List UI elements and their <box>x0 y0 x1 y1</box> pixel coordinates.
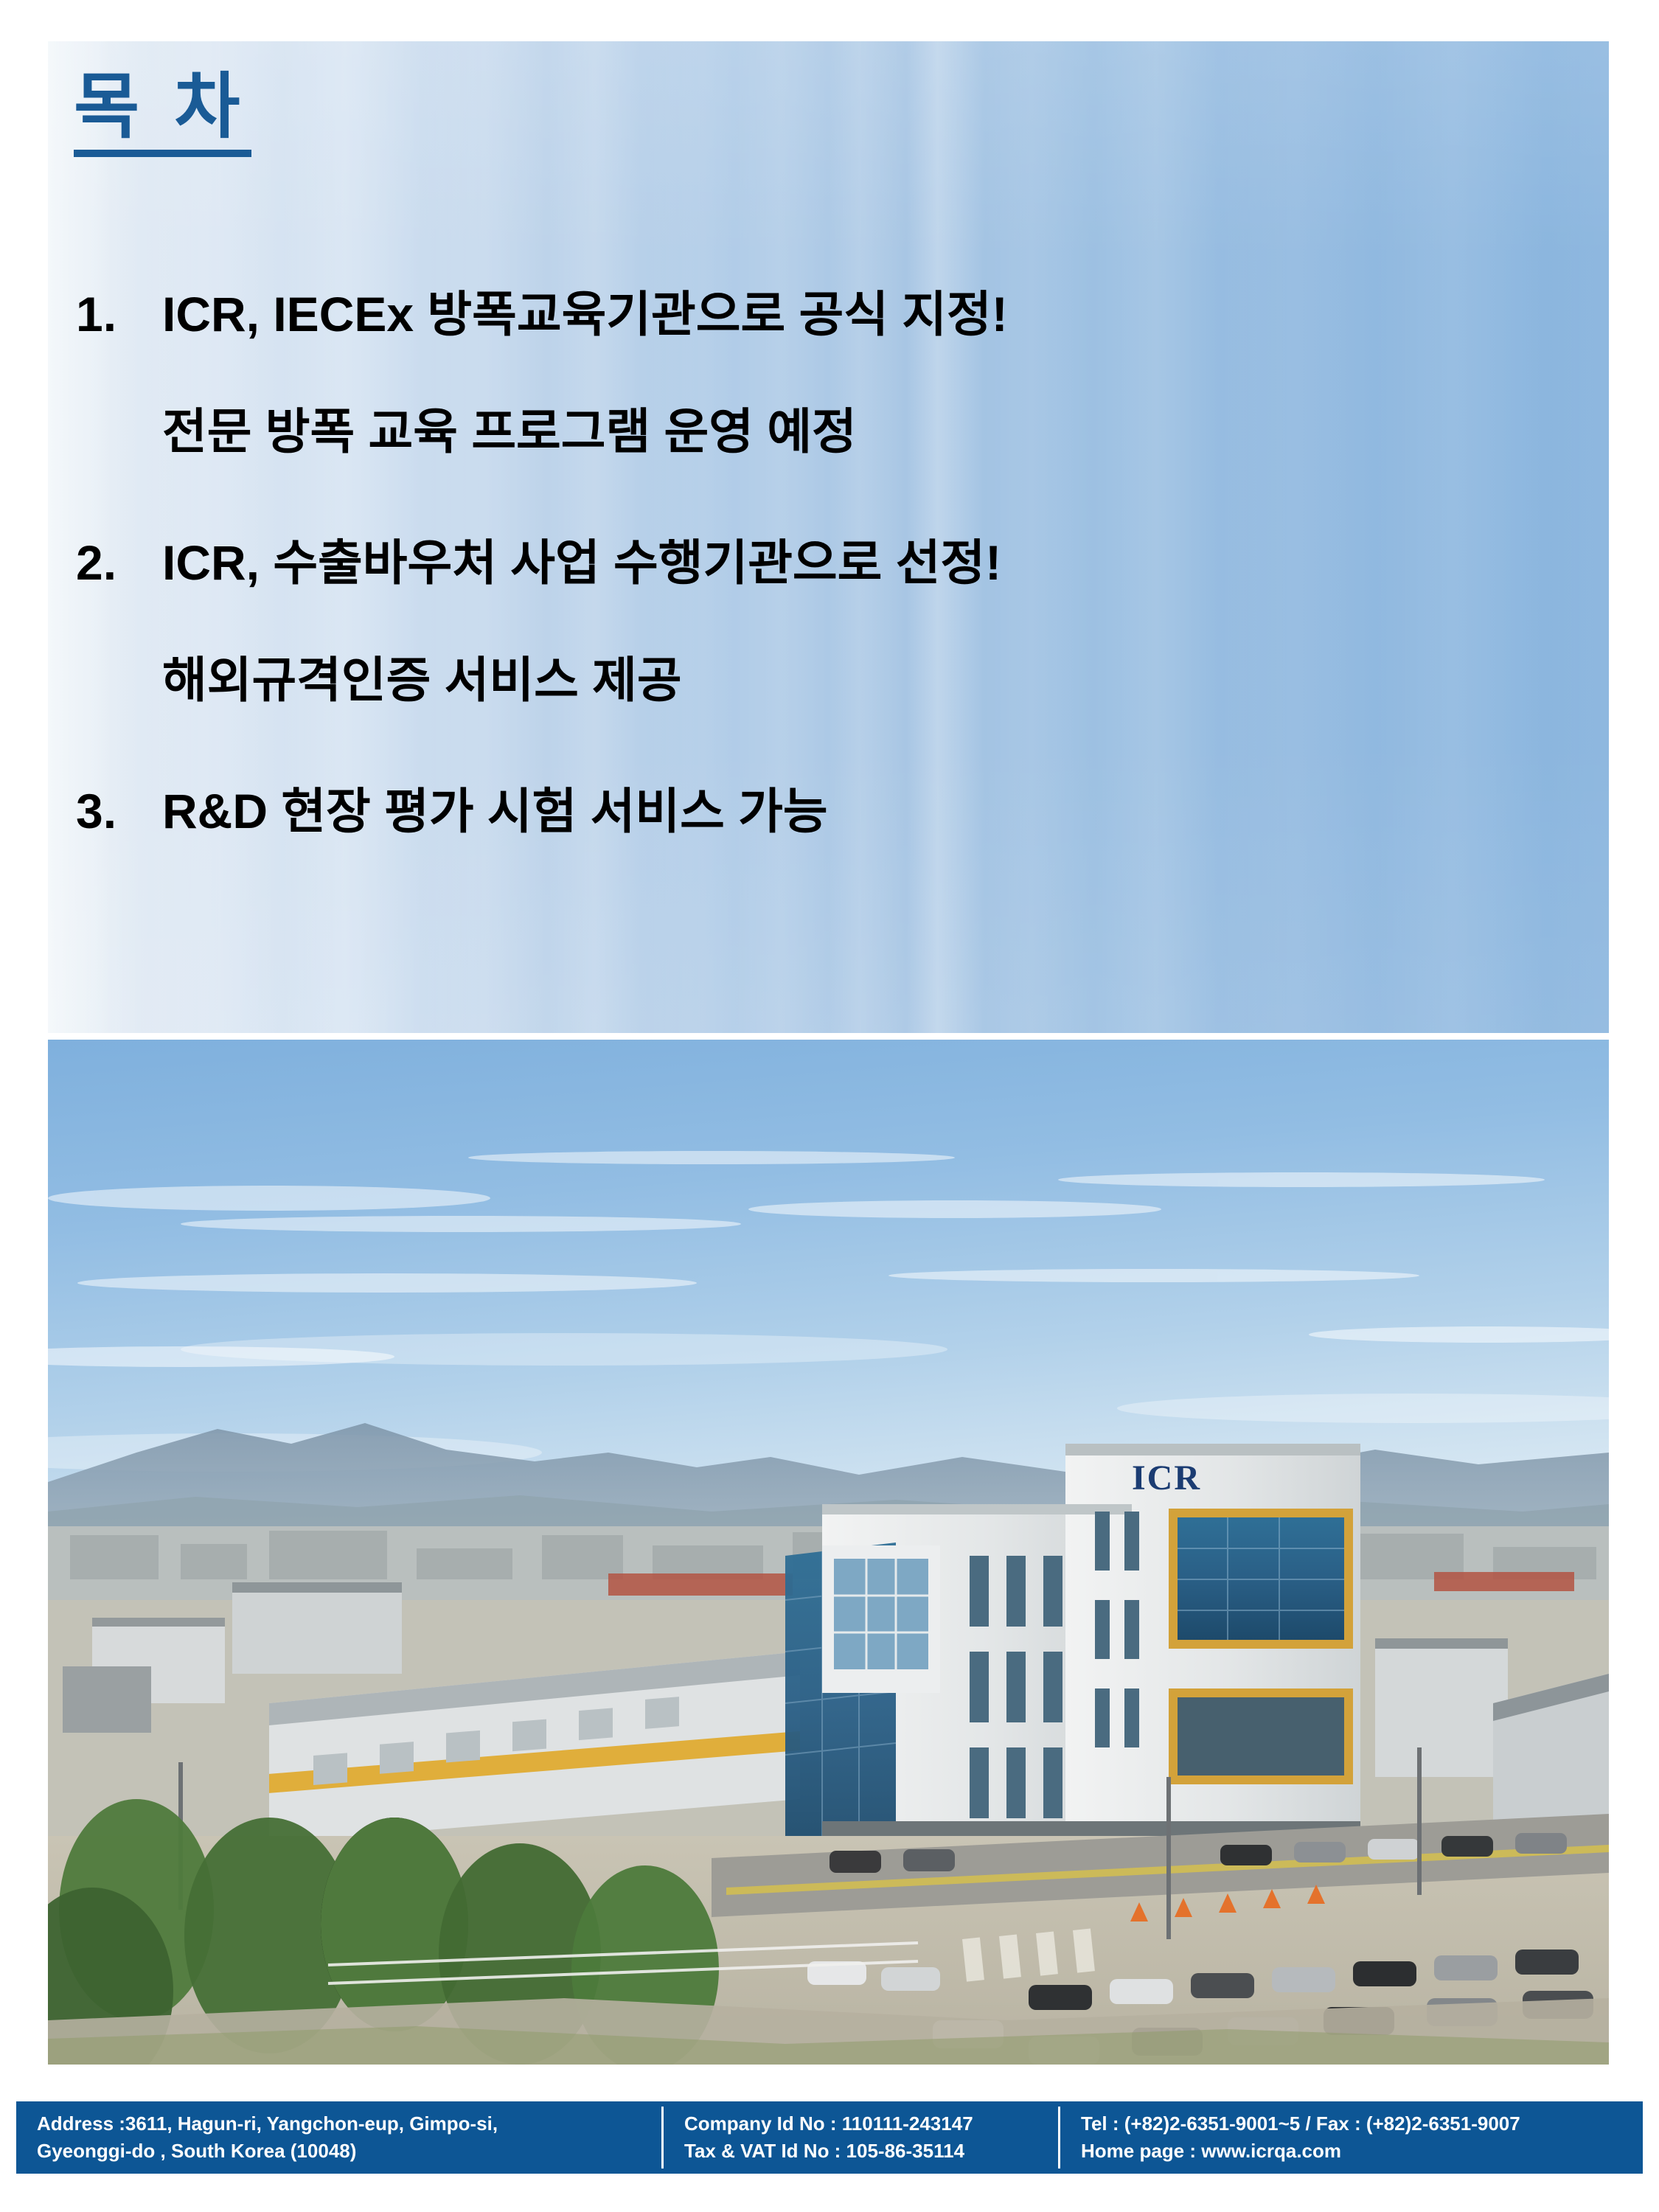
page-title: 목 차 <box>74 67 251 157</box>
footer-tel-fax: Tel : (+82)2-6351-9001~5 / Fax : (+82)2-… <box>1081 2110 1631 2138</box>
toc-item-2-texts: ICR, 수출바우처 사업 수행기관으로 선정! 해외규격인증 서비스 제공 <box>162 533 1609 709</box>
toc-item-2-main: ICR, 수출바우처 사업 수행기관으로 선정! <box>162 533 1609 593</box>
footer-address-line2: Gyeonggi-do , South Korea (10048) <box>37 2138 650 2165</box>
toc-item-3: 3. R&D 현장 평가 시험 서비스 가능 <box>48 782 1609 841</box>
toc-item-1: 1. ICR, IECEx 방폭교육기관으로 공식 지정! 전문 방폭 교육 프… <box>48 285 1609 461</box>
building-photo: ICR <box>48 1040 1609 2065</box>
toc-item-1-number: 1. <box>48 285 162 344</box>
footer-contact-block: Tel : (+82)2-6351-9001~5 / Fax : (+82)2-… <box>1060 2101 1643 2174</box>
toc-list: 1. ICR, IECEx 방폭교육기관으로 공식 지정! 전문 방폭 교육 프… <box>48 285 1609 841</box>
toc-item-2: 2. ICR, 수출바우처 사업 수행기관으로 선정! 해외규격인증 서비스 제… <box>48 533 1609 709</box>
toc-item-2-sub: 해외규격인증 서비스 제공 <box>162 650 1609 710</box>
toc-item-1-texts: ICR, IECEx 방폭교육기관으로 공식 지정! 전문 방폭 교육 프로그램… <box>162 285 1609 461</box>
svg-text:ICR: ICR <box>1132 1458 1201 1498</box>
footer-vat-id: Tax & VAT Id No : 105-86-35114 <box>684 2138 1046 2165</box>
footer-homepage[interactable]: Home page : www.icrqa.com <box>1081 2138 1631 2165</box>
toc-item-3-main: R&D 현장 평가 시험 서비스 가능 <box>162 782 1609 841</box>
toc-content: 목 차 1. ICR, IECEx 방폭교육기관으로 공식 지정! 전문 방폭 … <box>48 41 1609 1033</box>
toc-item-2-number: 2. <box>48 533 162 593</box>
slide-page: 목 차 1. ICR, IECEx 방폭교육기관으로 공식 지정! 전문 방폭 … <box>0 0 1659 2212</box>
toc-item-1-sub: 전문 방폭 교육 프로그램 운영 예정 <box>162 402 1609 462</box>
toc-item-3-texts: R&D 현장 평가 시험 서비스 가능 <box>162 782 1609 841</box>
footer-address-block: Address :3611, Hagun-ri, Yangchon-eup, G… <box>16 2101 661 2174</box>
toc-item-3-number: 3. <box>48 782 162 841</box>
footer-company-id-block: Company Id No : 110111-243147 Tax & VAT … <box>664 2101 1058 2174</box>
building-photo-illustration: ICR <box>48 1040 1609 2065</box>
footer-company-id: Company Id No : 110111-243147 <box>684 2110 1046 2138</box>
toc-panel: 목 차 1. ICR, IECEx 방폭교육기관으로 공식 지정! 전문 방폭 … <box>48 41 1609 1033</box>
footer-address-line1: Address :3611, Hagun-ri, Yangchon-eup, G… <box>37 2110 650 2138</box>
footer-bar: Address :3611, Hagun-ri, Yangchon-eup, G… <box>16 2101 1643 2174</box>
toc-item-1-main: ICR, IECEx 방폭교육기관으로 공식 지정! <box>162 285 1609 344</box>
